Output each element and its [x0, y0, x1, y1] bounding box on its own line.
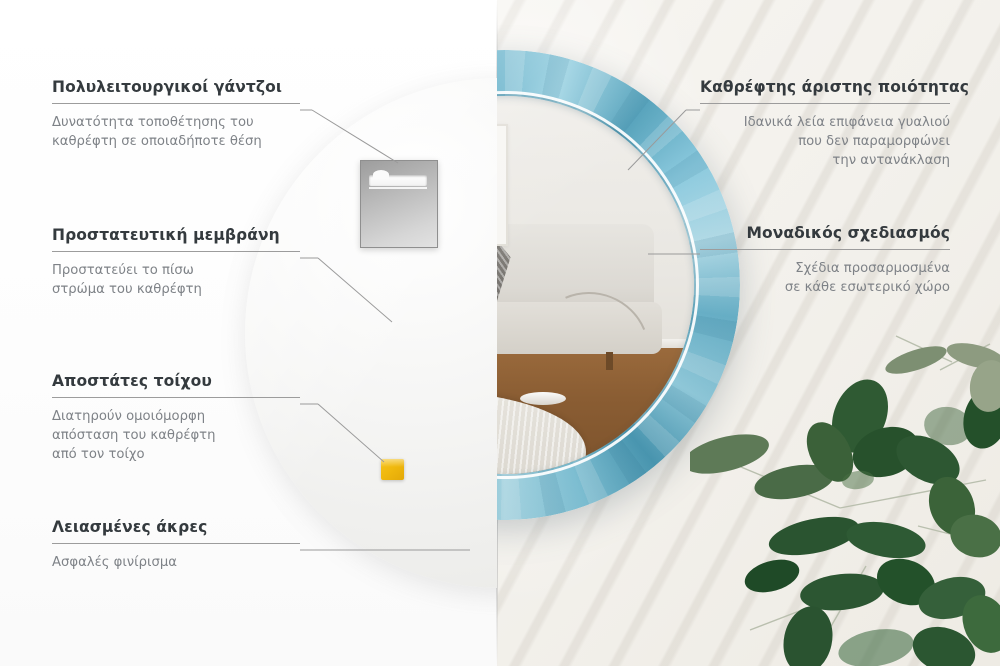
- hook-slot-line: [369, 187, 427, 189]
- callout-body: Προστατεύει το πίσω στρώμα του καθρέφτη: [52, 261, 300, 299]
- callout-title: Πολυλειτουργικοί γάντζοι: [52, 78, 300, 96]
- callout-body: Σχέδια προσαρμοσμένα σε κάθε εσωτερικό χ…: [700, 259, 950, 297]
- callout-rule: [700, 103, 950, 104]
- hook-slot-icon: [369, 175, 427, 186]
- callout-top-quality-mirror: Καθρέφτης άριστης ποιότητας Ιδανικά λεία…: [700, 78, 950, 170]
- callout-rule: [700, 249, 950, 250]
- callout-title: Λειασμένες άκρες: [52, 518, 300, 536]
- mirror-back-sheen: [245, 78, 497, 588]
- callout-body: Δυνατότητα τοποθέτησης του καθρέφτη σε ο…: [52, 113, 300, 151]
- callout-rule: [52, 397, 300, 398]
- callout-multifunctional-hooks: Πολυλειτουργικοί γάντζοι Δυνατότητα τοπο…: [52, 78, 300, 151]
- callout-title: Καθρέφτης άριστης ποιότητας: [700, 78, 950, 96]
- callout-smoothed-edges: Λειασμένες άκρες Ασφαλές φινίρισμα: [52, 518, 300, 572]
- callout-rule: [52, 251, 300, 252]
- callout-body: Ασφαλές φινίρισμα: [52, 553, 300, 572]
- callout-title: Αποστάτες τοίχου: [52, 372, 300, 390]
- infographic-stage: Πολυλειτουργικοί γάντζοι Δυνατότητα τοπο…: [0, 0, 1000, 666]
- callout-title: Προστατευτική μεμβράνη: [52, 226, 300, 244]
- foliage-svg: [690, 330, 1000, 666]
- callout-rule: [52, 543, 300, 544]
- callout-protective-membrane: Προστατευτική μεμβράνη Προστατεύει το πί…: [52, 226, 300, 299]
- foliage-decoration: [690, 330, 1000, 666]
- callout-body: Διατηρούν ομοιόμορφη απόσταση του καθρέφ…: [52, 407, 300, 464]
- callout-rule: [52, 103, 300, 104]
- wall-spacer-highlight: [381, 459, 404, 467]
- wall-spacer-pad: [381, 459, 404, 480]
- callout-title: Μοναδικός σχεδιασμός: [700, 224, 950, 242]
- callout-body: Ιδανικά λεία επιφάνεια γυαλιού που δεν π…: [700, 113, 950, 170]
- hanging-hook-plate: [360, 160, 438, 248]
- callout-wall-spacers: Αποστάτες τοίχου Διατηρούν ομοιόμορφη απ…: [52, 372, 300, 464]
- callout-unique-design: Μοναδικός σχεδιασμός Σχέδια προσαρμοσμέν…: [700, 224, 950, 297]
